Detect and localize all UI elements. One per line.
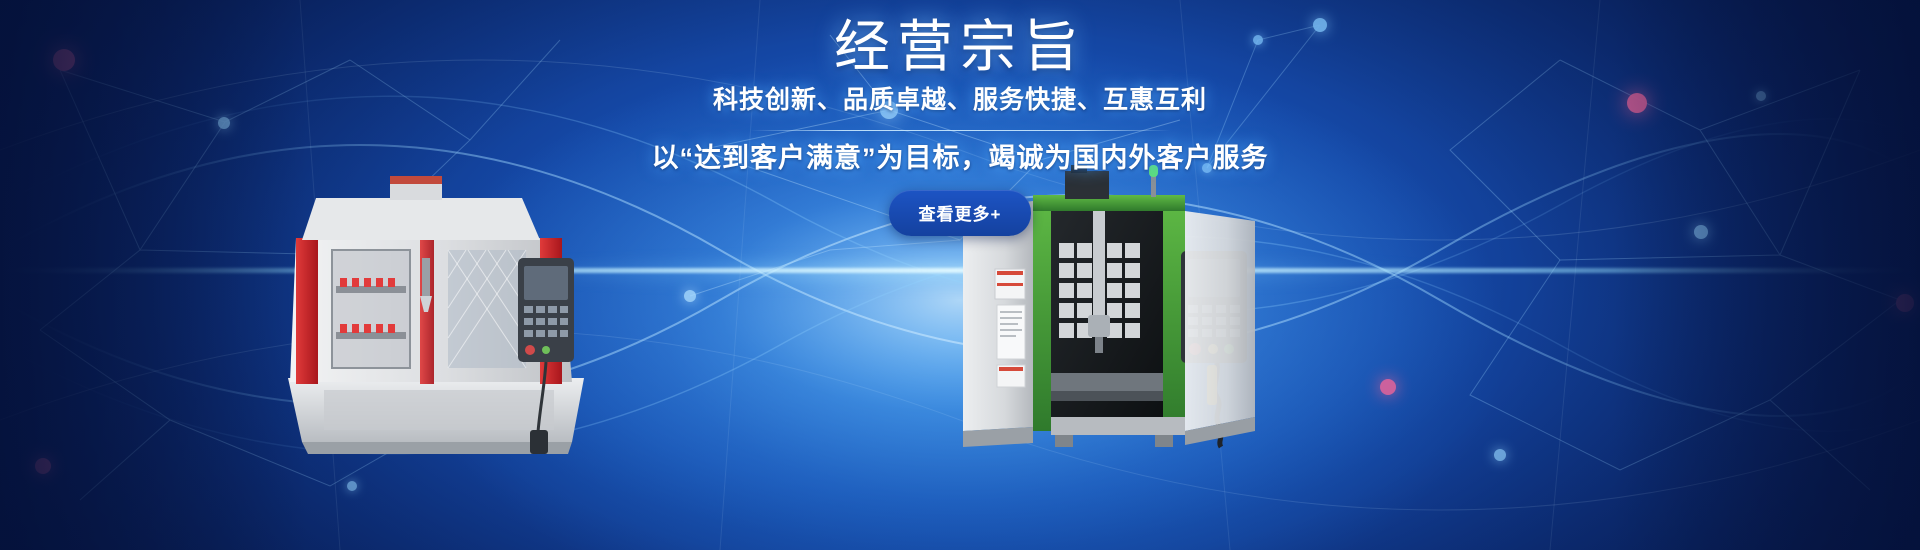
banner-tagline: 以“达到客户满意”为目标，竭诚为国内外客户服务 (0, 142, 1920, 174)
page-title: 经营宗旨 (0, 18, 1920, 77)
view-more-button[interactable]: 查看更多+ (889, 190, 1032, 236)
banner-copy-block: 经营宗旨 科技创新、品质卓越、服务快捷、互惠互利 以“达到客户满意”为目标，竭诚… (0, 18, 1920, 236)
divider (750, 130, 1170, 131)
hero-banner: 经营宗旨 科技创新、品质卓越、服务快捷、互惠互利 以“达到客户满意”为目标，竭诚… (0, 0, 1920, 550)
banner-subtitle: 科技创新、品质卓越、服务快捷、互惠互利 (0, 85, 1920, 115)
